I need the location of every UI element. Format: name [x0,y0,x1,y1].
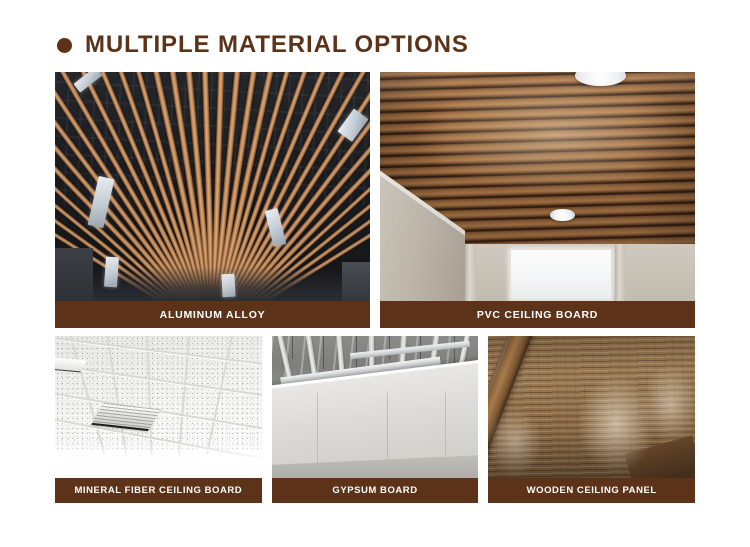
wall-right [342,262,370,301]
hanger-wire [292,336,293,359]
caption-wooden-ceiling-panel: WOODEN CEILING PANEL [488,478,695,503]
ceiling-grid-line [146,336,152,458]
material-options-page: MULTIPLE MATERIAL OPTIONS ALUMINUM ALLOY [0,0,750,547]
wall-column-left [465,244,476,301]
material-card-wooden-ceiling-panel[interactable]: WOODEN CEILING PANEL [488,336,695,503]
photo-mineral-fiber-ceiling-board [55,336,262,478]
wall-left [55,248,93,301]
lower-fade [55,441,262,478]
caption-gypsum-board: GYPSUM BOARD [272,478,479,503]
page-header: MULTIPLE MATERIAL OPTIONS [57,33,469,57]
photo-aluminum-alloy [55,72,370,301]
material-card-aluminum-alloy[interactable]: ALUMINUM ALLOY [55,72,370,328]
gallery-top-row: ALUMINUM ALLOY PVC CEILING BOARD [55,72,695,328]
ceiling-lamp-small [550,209,575,220]
wall-column-right [615,244,626,301]
caption-pvc-ceiling-board: PVC CEILING BOARD [380,301,695,328]
photo-pvc-ceiling-board [380,72,695,301]
linear-light-3 [104,257,119,288]
ceiling-grid-line [67,336,104,453]
material-card-gypsum-board[interactable]: GYPSUM BOARD [272,336,479,503]
ceiling-grid-line [206,336,235,455]
photo-wooden-ceiling-panel [488,336,695,478]
ceiling-lower-shadow [55,267,370,301]
filled-circle-bullet-icon [57,38,72,53]
caption-mineral-fiber-ceiling-board: MINERAL FIBER CEILING BOARD [55,478,262,503]
window-frame [509,248,613,301]
ceiling-grid-line [105,336,127,457]
page-title: MULTIPLE MATERIAL OPTIONS [85,33,469,57]
vignette [488,336,695,478]
material-card-pvc-ceiling-board[interactable]: PVC CEILING BOARD [380,72,695,328]
caption-aluminum-alloy: ALUMINUM ALLOY [55,301,370,328]
photo-gypsum-board [272,336,479,478]
hanger-wire [323,336,324,369]
material-card-mineral-fiber-ceiling-board[interactable]: MINERAL FIBER CEILING BOARD [55,336,262,503]
gallery-bottom-row: MINERAL FIBER CEILING BOARD GYPSUM BOARD [55,336,695,503]
linear-light-5 [221,273,235,297]
